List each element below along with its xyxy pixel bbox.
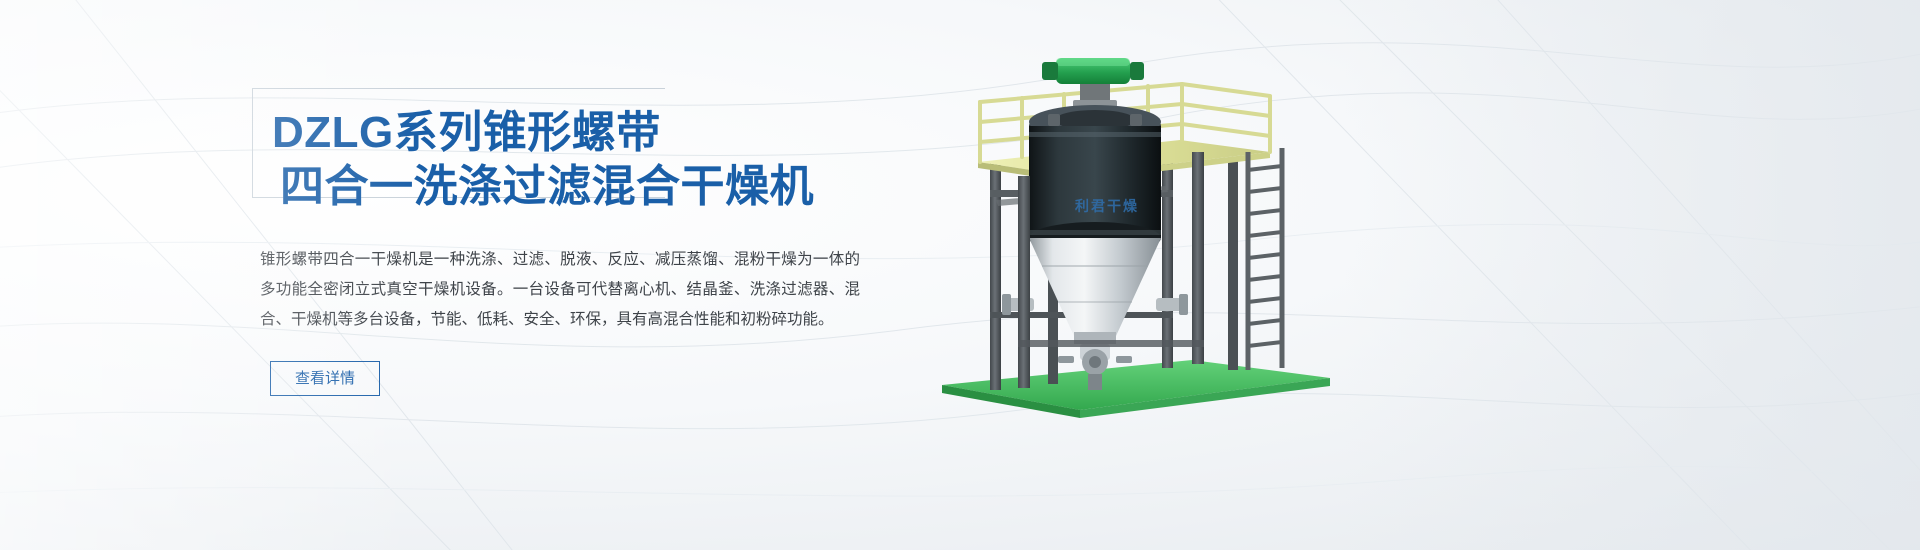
- product-illustration: [930, 40, 1350, 440]
- title-line-2: 四合一洗涤过滤混合干燥机: [280, 160, 892, 214]
- banner-copy: DZLG系列锥形螺带 四合一洗涤过滤混合干燥机 锥形螺带四合一干燥机是一种洗涤、…: [252, 88, 892, 396]
- hero-banner: DZLG系列锥形螺带 四合一洗涤过滤混合干燥机 锥形螺带四合一干燥机是一种洗涤、…: [0, 0, 1920, 550]
- product-description: 锥形螺带四合一干燥机是一种洗涤、过滤、脱液、反应、减压蒸馏、混粉干燥为一体的多功…: [260, 245, 860, 335]
- page-title: DZLG系列锥形螺带 四合一洗涤过滤混合干燥机: [272, 106, 892, 213]
- drive-motor: [1042, 58, 1144, 112]
- title-line-1: DZLG系列锥形螺带: [272, 106, 892, 160]
- access-ladder: [1248, 148, 1282, 370]
- view-details-button[interactable]: 查看详情: [270, 361, 380, 396]
- title-block: DZLG系列锥形螺带 四合一洗涤过滤混合干燥机: [252, 88, 892, 223]
- vessel-cylinder: [1029, 126, 1161, 254]
